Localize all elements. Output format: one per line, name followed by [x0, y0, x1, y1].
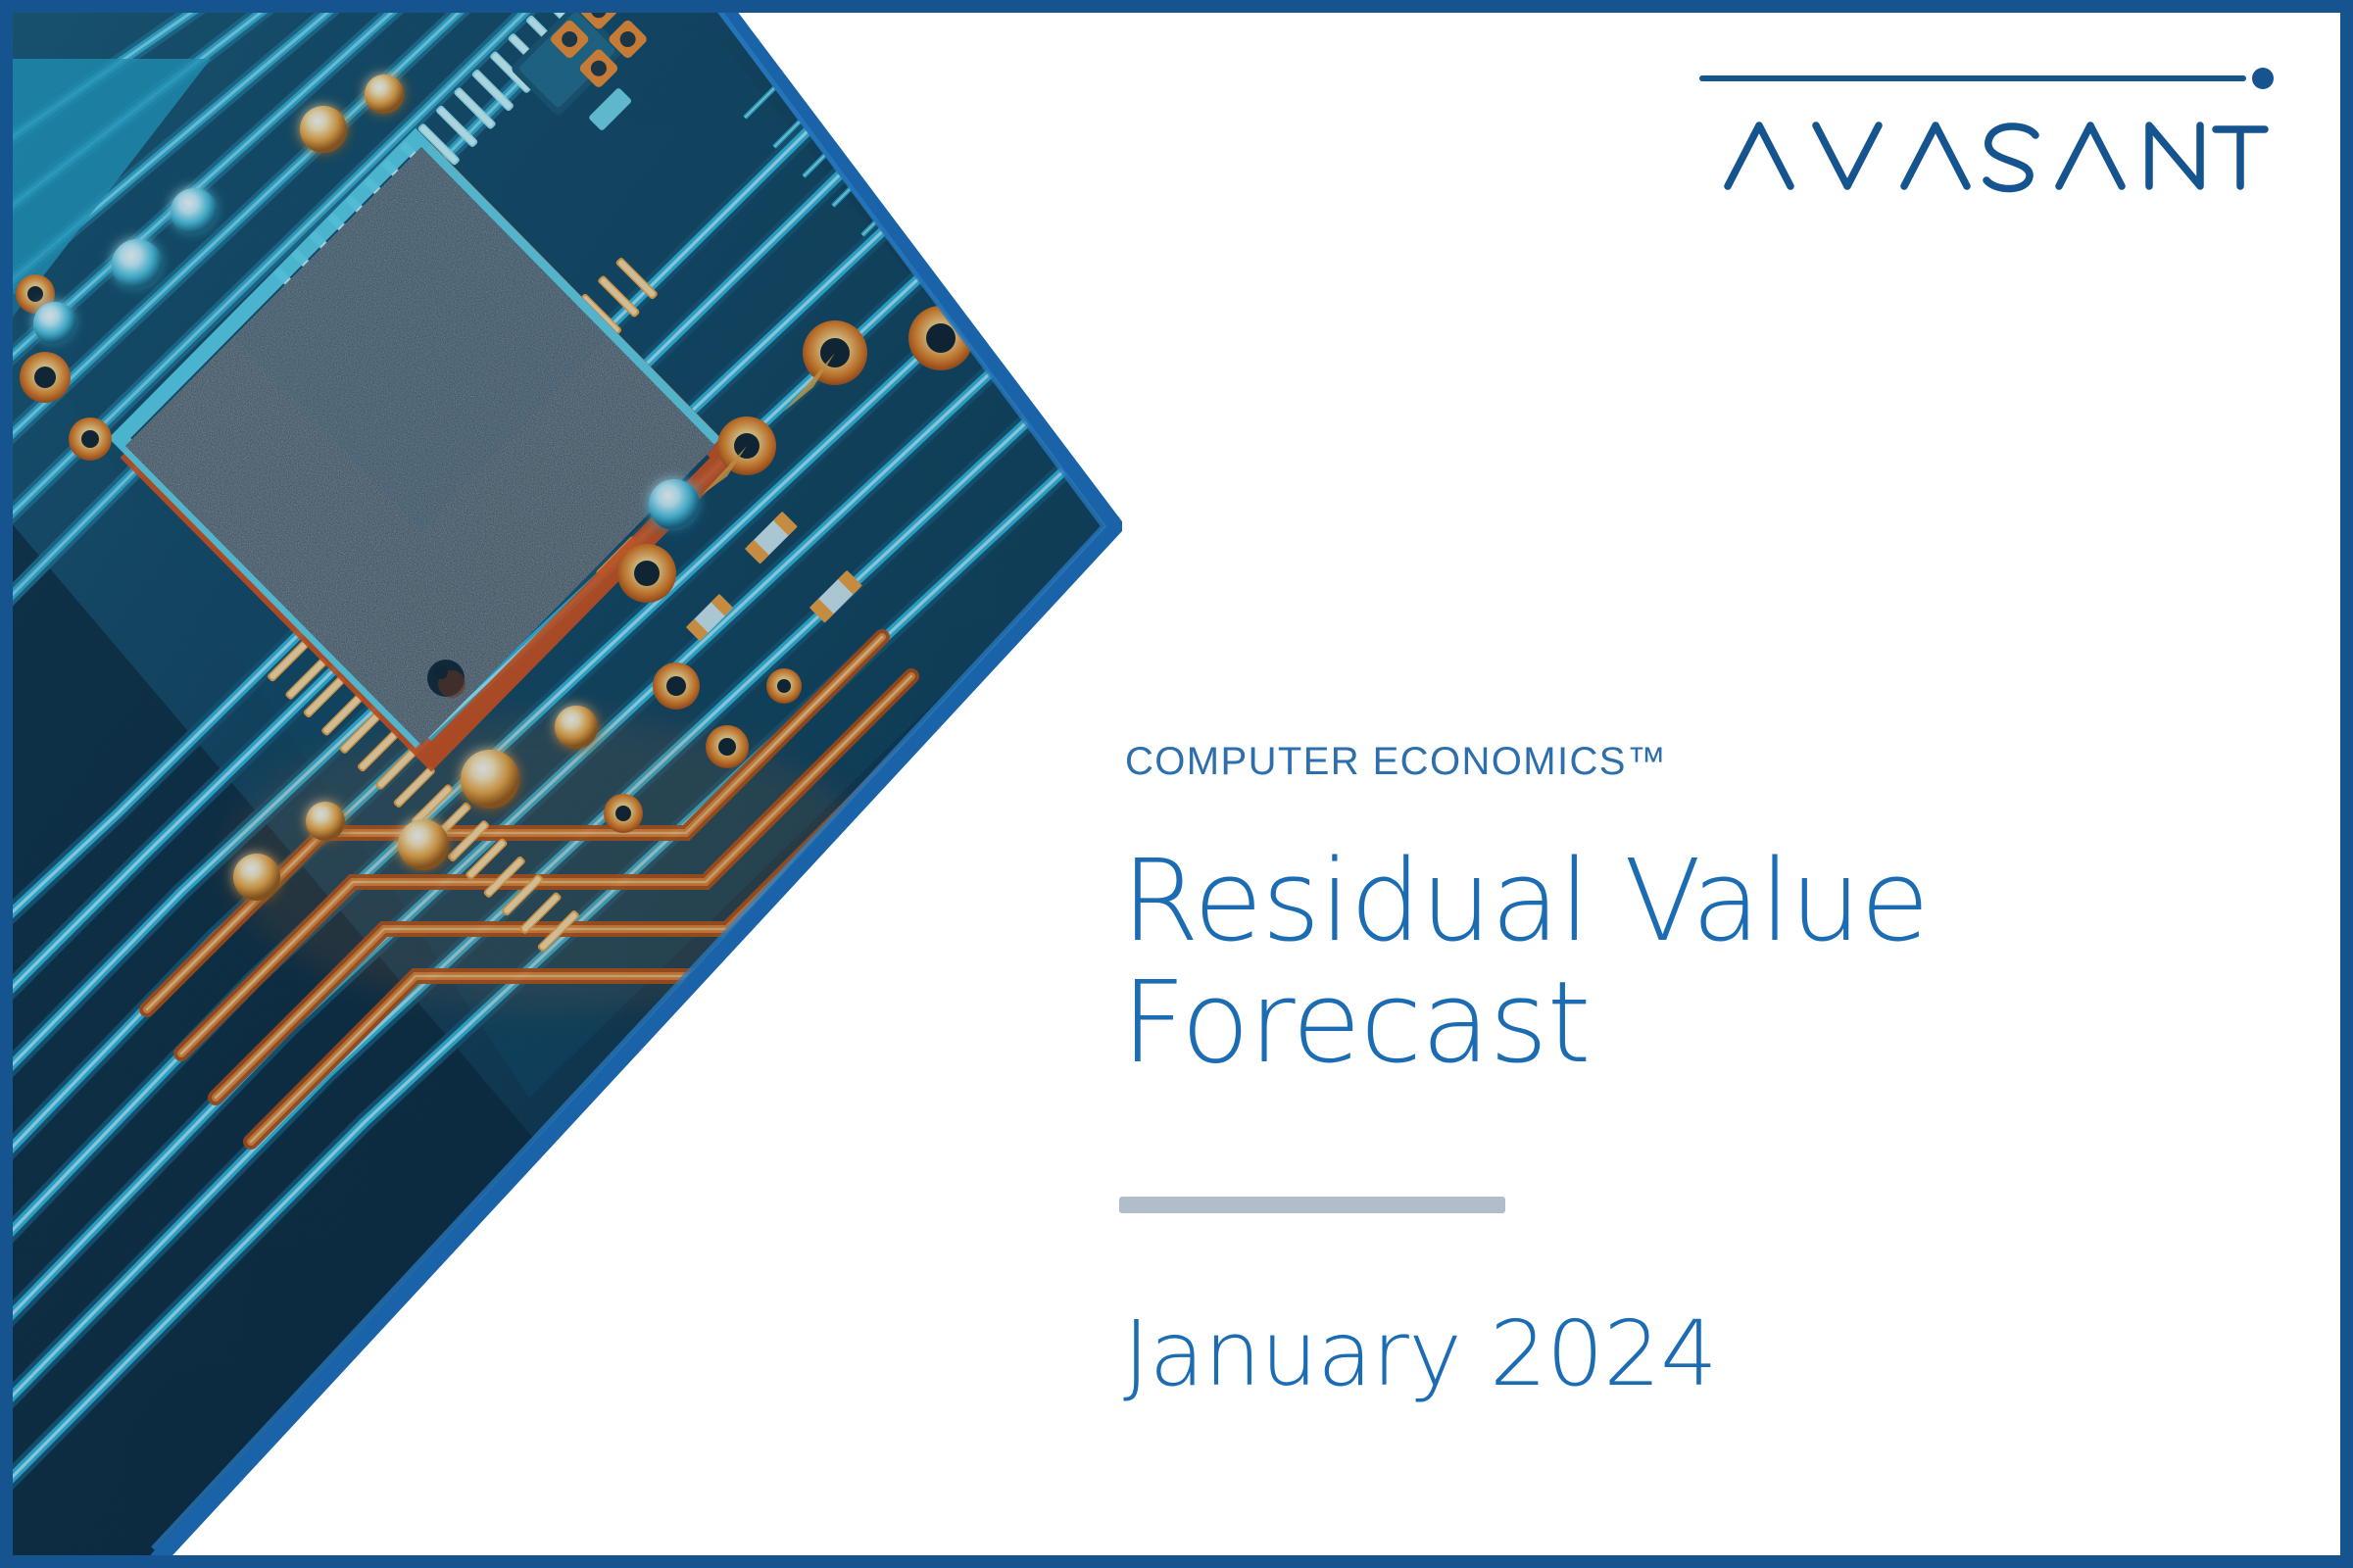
- title-divider: [1119, 1197, 1505, 1213]
- page-title-line-2: Forecast: [1121, 962, 2278, 1084]
- logo-wordmark: [1728, 125, 2265, 189]
- publication-date: January 2024: [1123, 1301, 1717, 1406]
- avasant-logo-svg: [1698, 61, 2275, 198]
- artwork-clip-group: [0, 0, 1122, 1568]
- eyebrow-label: COMPUTER ECONOMICS™: [1125, 740, 1667, 784]
- slide-root: COMPUTER ECONOMICS™ Residual Value Forec…: [0, 0, 2353, 1568]
- content-column: COMPUTER ECONOMICS™ Residual Value Forec…: [1125, 0, 2353, 1568]
- page-title-line-1: Residual Value: [1121, 841, 2278, 962]
- logo-dot: [2252, 68, 2274, 89]
- circuit-board-artwork: [0, 0, 1122, 1568]
- page-title: Residual Value Forecast: [1121, 841, 2278, 1084]
- circuit-board-svg: [0, 0, 1122, 1568]
- avasant-logo[interactable]: [1698, 61, 2275, 198]
